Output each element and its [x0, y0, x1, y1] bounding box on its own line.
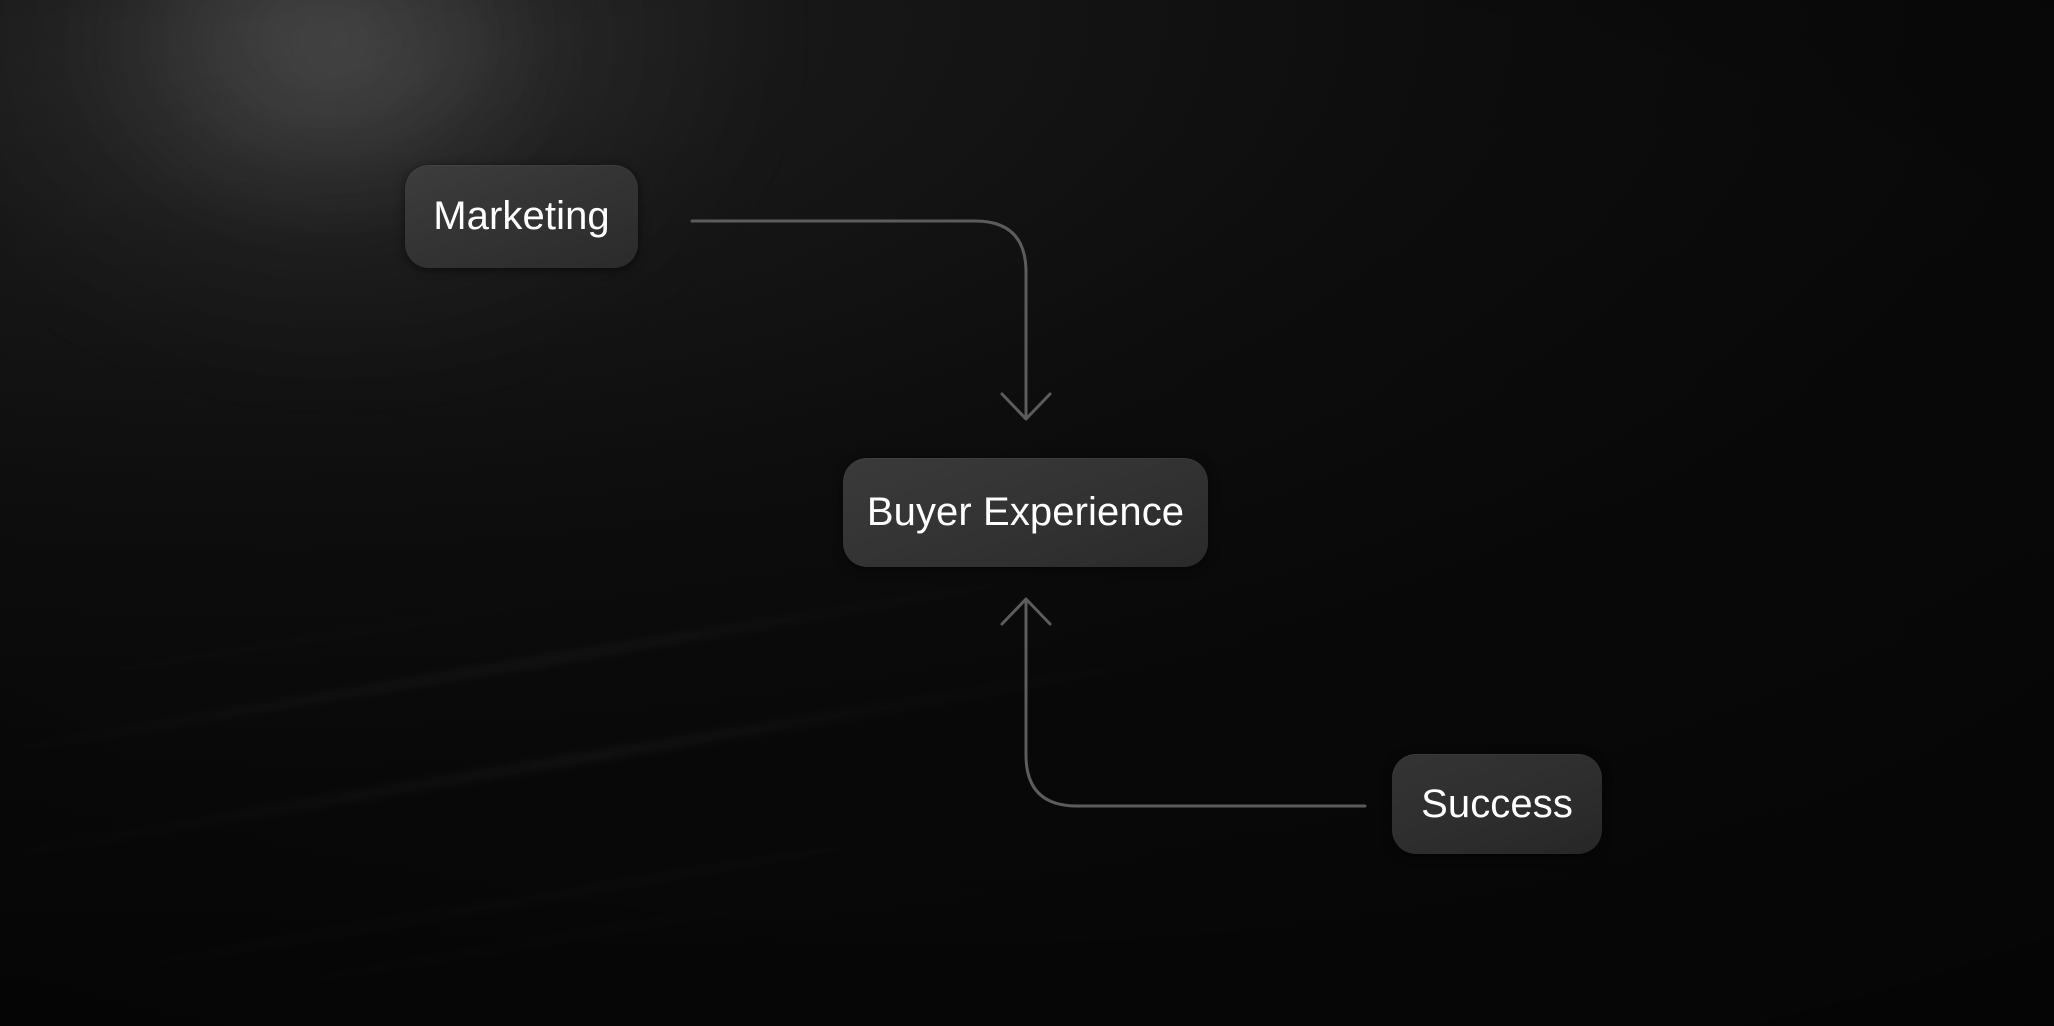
node-buyer-experience-label: Buyer Experience: [867, 490, 1184, 535]
node-marketing[interactable]: Marketing: [405, 165, 638, 268]
node-buyer-experience[interactable]: Buyer Experience: [843, 458, 1208, 567]
diagram-canvas: Marketing Buyer Experience Success: [0, 0, 2054, 1026]
node-success[interactable]: Success: [1392, 754, 1602, 854]
node-success-label: Success: [1421, 782, 1573, 827]
node-marketing-label: Marketing: [433, 194, 610, 239]
